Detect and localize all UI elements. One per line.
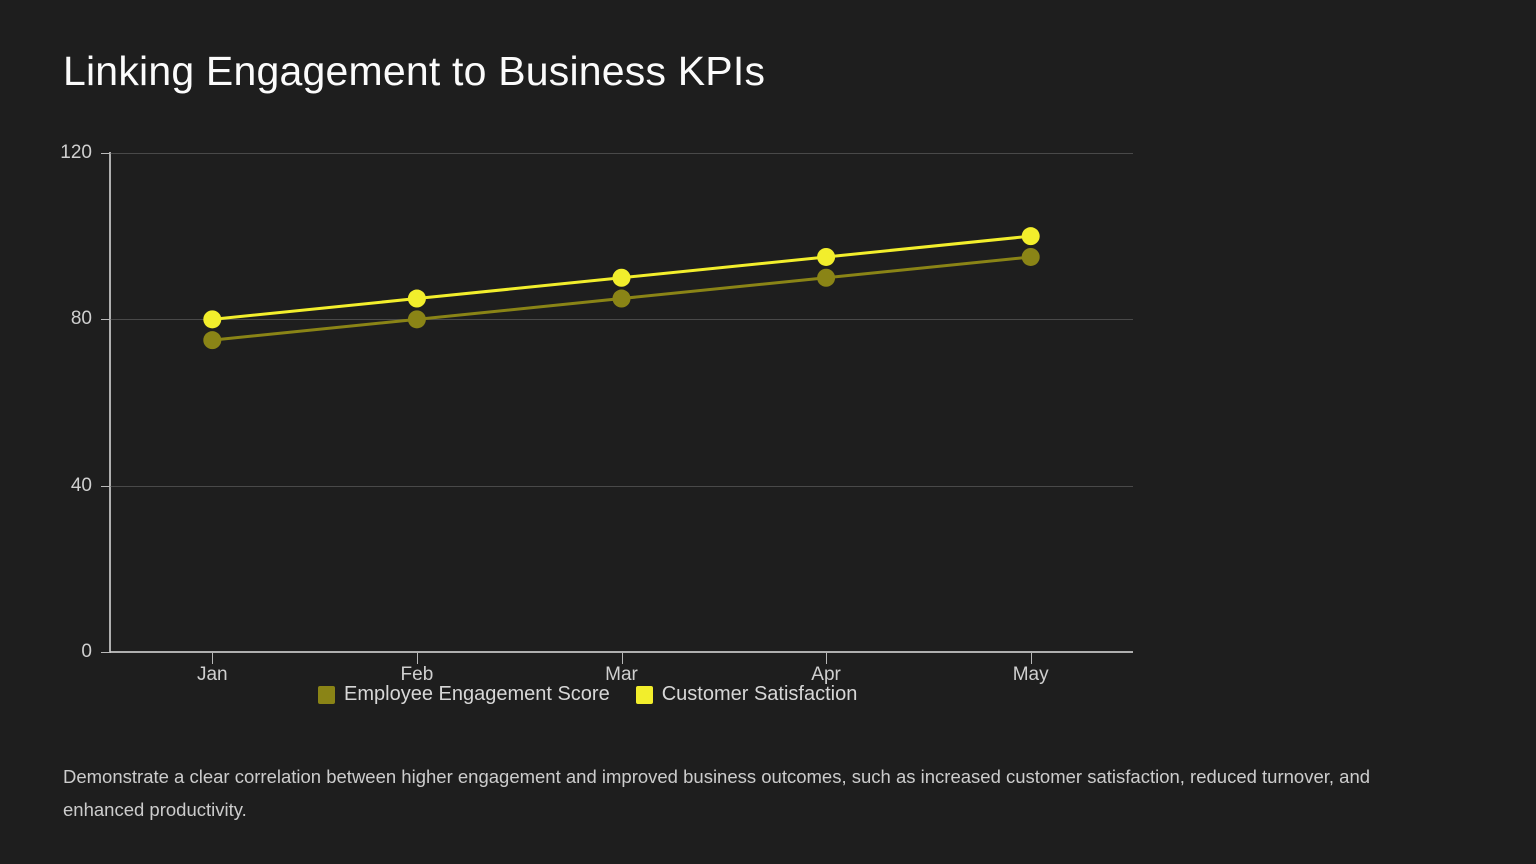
data-point[interactable] bbox=[203, 310, 221, 328]
data-point[interactable] bbox=[1022, 248, 1040, 266]
chart-legend: Employee Engagement ScoreCustomer Satisf… bbox=[318, 683, 857, 706]
data-point[interactable] bbox=[817, 248, 835, 266]
slide-caption: Demonstrate a clear correlation between … bbox=[63, 760, 1423, 826]
legend-item-1[interactable]: Employee Engagement Score bbox=[318, 683, 610, 706]
legend-label: Customer Satisfaction bbox=[662, 683, 858, 706]
data-point[interactable] bbox=[203, 331, 221, 349]
data-point[interactable] bbox=[1022, 227, 1040, 245]
line-chart: 04080120 JanFebMarAprMay Employee Engage… bbox=[0, 0, 1536, 720]
data-point[interactable] bbox=[817, 269, 835, 287]
legend-swatch-icon bbox=[636, 686, 653, 704]
series-2 bbox=[203, 227, 1039, 328]
series-plot-layer bbox=[0, 0, 1536, 720]
data-point[interactable] bbox=[408, 310, 426, 328]
series-1 bbox=[203, 248, 1039, 349]
data-point[interactable] bbox=[613, 290, 631, 308]
legend-item-2[interactable]: Customer Satisfaction bbox=[636, 683, 858, 706]
data-point[interactable] bbox=[613, 269, 631, 287]
legend-swatch-icon bbox=[318, 686, 335, 704]
slide-canvas: Linking Engagement to Business KPIs 0408… bbox=[0, 0, 1536, 864]
legend-label: Employee Engagement Score bbox=[344, 683, 610, 706]
data-point[interactable] bbox=[408, 290, 426, 308]
